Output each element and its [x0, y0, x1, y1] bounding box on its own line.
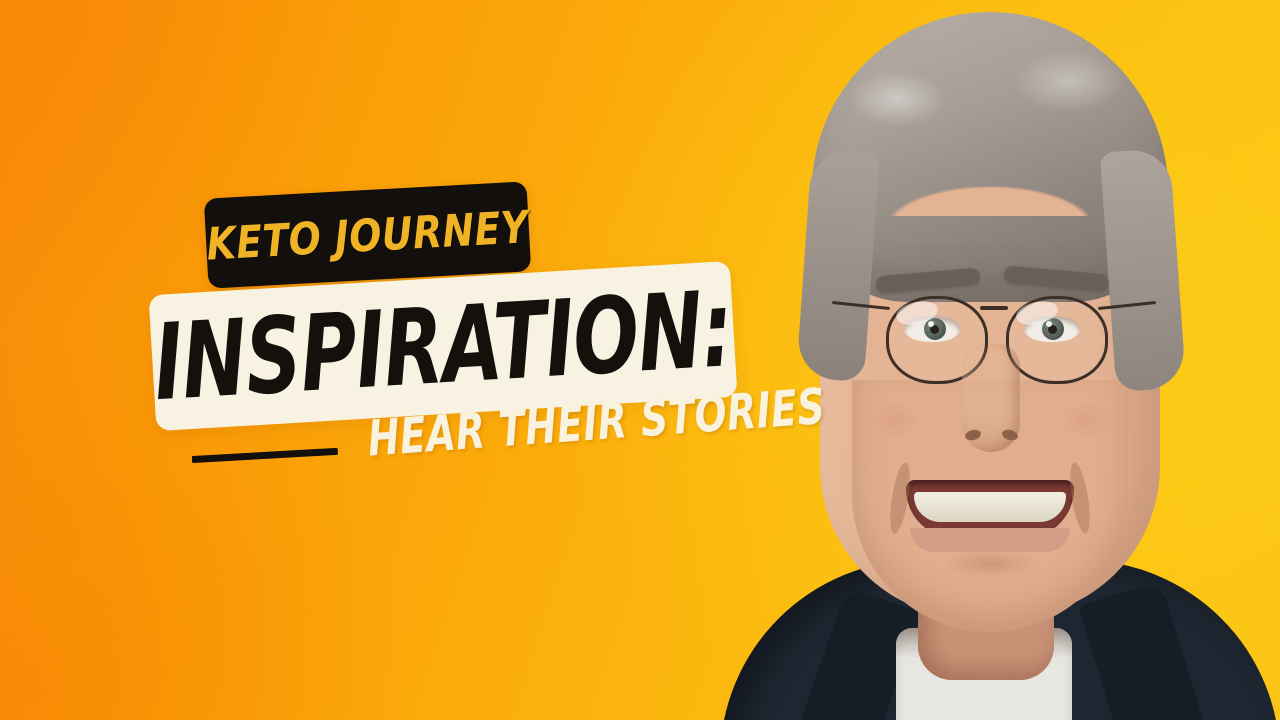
subhead-rule — [192, 448, 338, 463]
cheek-left — [860, 392, 932, 448]
chin-shadow — [924, 548, 1056, 588]
cheek-right — [1050, 392, 1122, 448]
hairline-fringe — [850, 108, 1130, 216]
thumbnail-canvas: KETO JOURNEY INSPIRATION: HEAR THEIR STO… — [0, 0, 1280, 720]
title-overlay: KETO JOURNEY INSPIRATION: HEAR THEIR STO… — [0, 0, 820, 720]
glasses-bridge — [980, 306, 1008, 310]
teeth — [914, 492, 1066, 522]
